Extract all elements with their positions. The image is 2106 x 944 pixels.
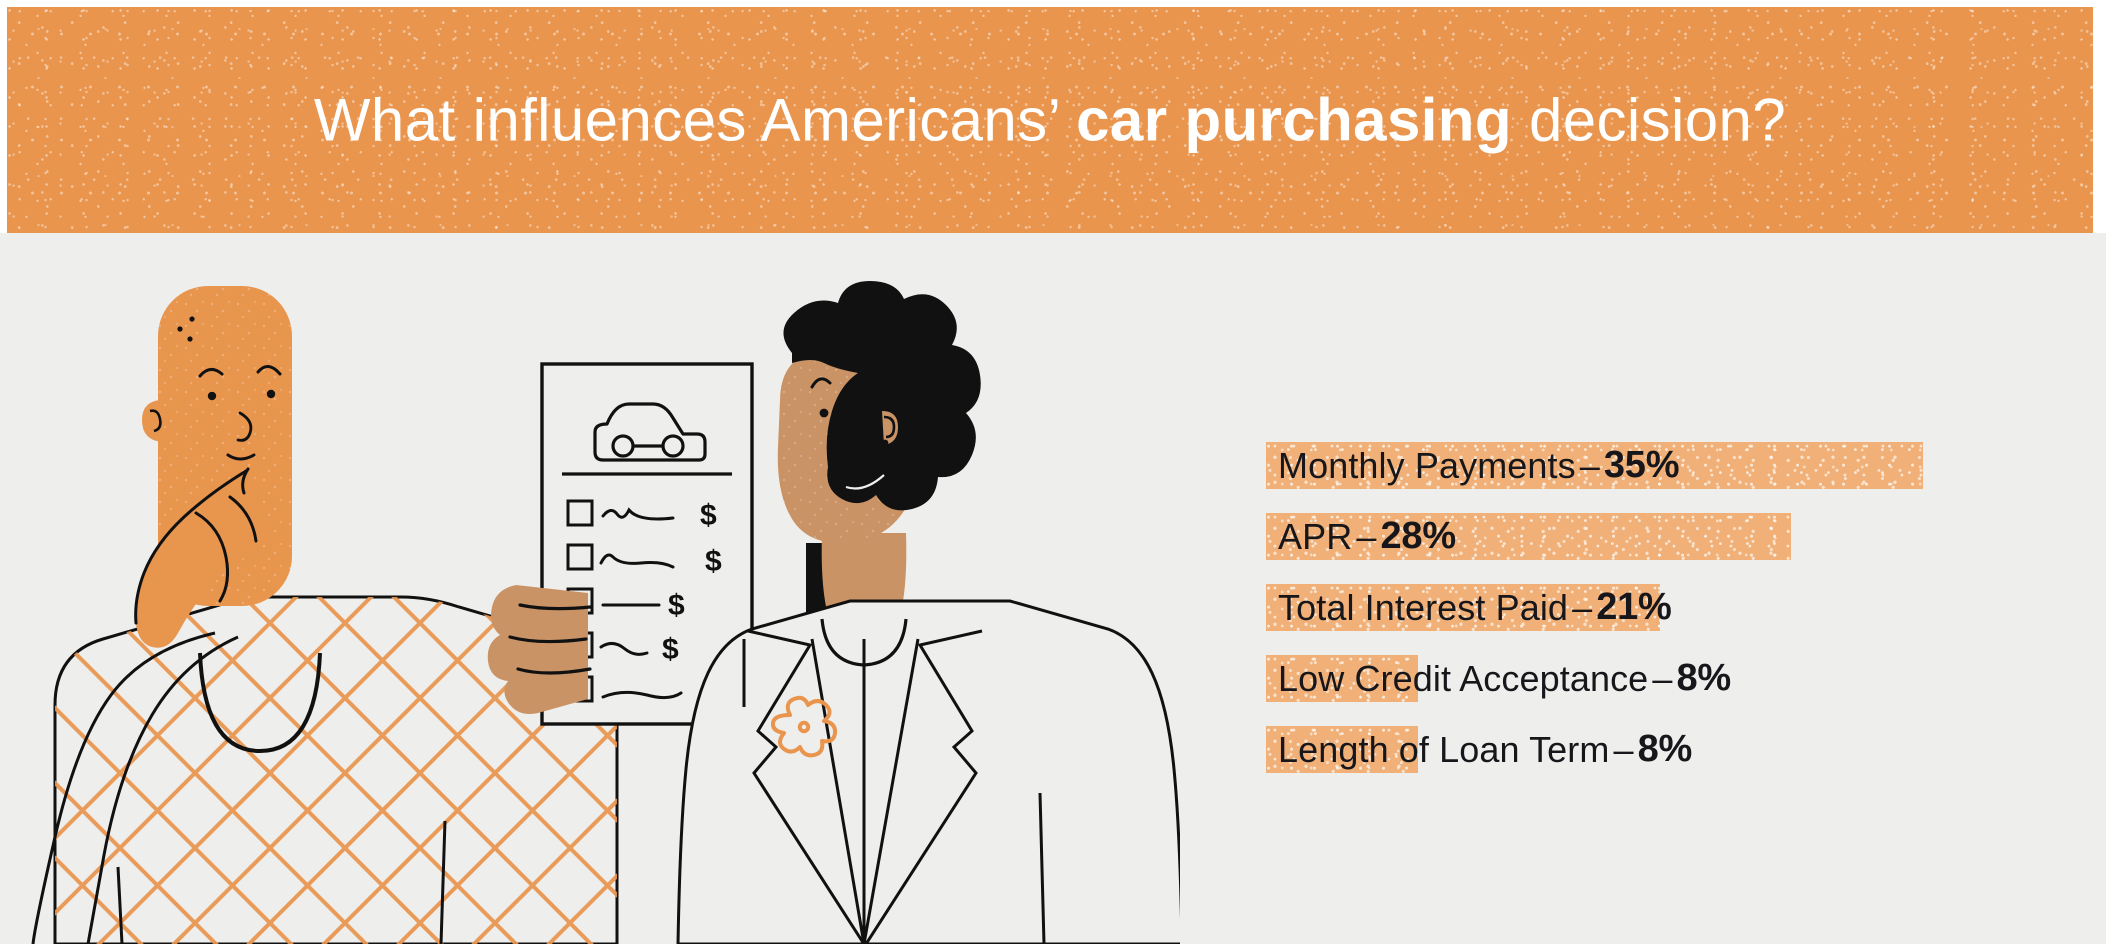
title-part-1: What influences Americans’ [314, 87, 1076, 154]
left-person-hair-dot [189, 316, 194, 321]
stat-value: 8% [1638, 728, 1693, 771]
left-person-eye [208, 392, 216, 400]
dollar-icon: $ [705, 545, 722, 578]
title-part-2: decision? [1512, 87, 1786, 154]
left-person-hair-dot [187, 336, 192, 341]
header-band: What influences Americans’ car purchasin… [7, 7, 2093, 233]
infographic-canvas: What influences Americans’ car purchasin… [0, 0, 2106, 944]
title-emphasis: car purchasing [1076, 87, 1512, 154]
stat-value: 28% [1380, 515, 1455, 558]
stat-row: Total Interest Paid – 21% [1266, 575, 1966, 646]
left-person-eye [267, 390, 275, 398]
stat-row: Low Credit Acceptance – 8% [1266, 646, 1966, 717]
stat-row: APR – 28% [1266, 504, 1966, 575]
content-area: $ $ $ [0, 233, 2106, 944]
stat-row: Monthly Payments – 35% [1266, 433, 1966, 504]
stat-value: 21% [1596, 586, 1671, 629]
dollar-icon: $ [662, 633, 679, 666]
right-person-eye [868, 405, 877, 414]
stat-label: APR – 28% [1278, 513, 1456, 560]
page-title: What influences Americans’ car purchasin… [7, 86, 2093, 155]
dollar-icon: $ [700, 499, 717, 532]
stat-name: Low Credit Acceptance [1278, 658, 1648, 700]
stat-dash: – [1576, 445, 1604, 487]
left-person-hair-dot [177, 326, 182, 331]
stat-label: Total Interest Paid – 21% [1278, 584, 1672, 631]
stat-value: 8% [1676, 657, 1731, 700]
stat-label: Length of Loan Term – 8% [1278, 726, 1692, 773]
stat-dash: – [1609, 729, 1637, 771]
stat-name: Monthly Payments [1278, 445, 1576, 487]
illustration: $ $ $ [0, 233, 1180, 944]
stat-dash: – [1568, 587, 1596, 629]
stat-dash: – [1648, 658, 1676, 700]
stat-row: Length of Loan Term – 8% [1266, 717, 1966, 788]
earring-icon [882, 440, 889, 447]
stat-label: Low Credit Acceptance – 8% [1278, 655, 1731, 702]
stat-name: Total Interest Paid [1278, 587, 1568, 629]
dollar-icon: $ [668, 589, 685, 622]
stat-value: 35% [1604, 444, 1679, 487]
right-person-eye [820, 409, 829, 418]
stat-dash: – [1352, 516, 1380, 558]
right-person-blazer [678, 601, 1180, 944]
stat-label: Monthly Payments – 35% [1278, 442, 1679, 489]
stat-name: APR [1278, 516, 1352, 558]
stats-list: Monthly Payments – 35% APR – 28% [1266, 433, 1966, 788]
stat-name: Length of Loan Term [1278, 729, 1609, 771]
